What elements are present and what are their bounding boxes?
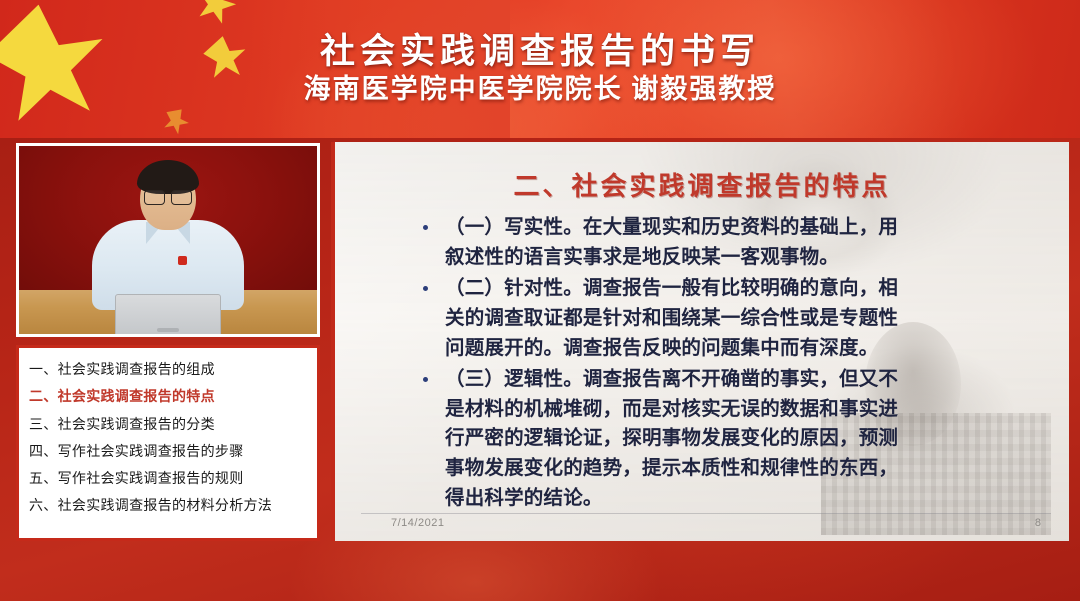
presenter-video-panel[interactable] bbox=[16, 143, 320, 337]
slide-footer: 7/14/2021 8 bbox=[335, 513, 1069, 541]
slide-panel[interactable]: 二、社会实践调查报告的特点 （一）写实性。在大量现实和历史资料的基础上，用叙述性… bbox=[331, 142, 1069, 541]
page-subtitle: 海南医学院中医学院院长 谢毅强教授 bbox=[304, 75, 777, 105]
slide-bullet-text-1: （一）写实性。在大量现实和历史资料的基础上，用叙述性的语言实事求是地反映某一客观… bbox=[445, 213, 915, 272]
slide-bullet-text-2: （二）针对性。调查报告一般有比较明确的意向，相关的调查取证都是针对和围绕某一综合… bbox=[445, 274, 915, 363]
bullet-dot-icon bbox=[423, 377, 428, 382]
outline-item-4[interactable]: 四、写作社会实践调查报告的步骤 bbox=[29, 439, 309, 466]
slide-bullet-text-3: （三）逻辑性。调查报告离不开确凿的事实，但又不是材料的机械堆砌，而是对核实无误的… bbox=[445, 365, 915, 513]
bullet-dot-icon bbox=[423, 286, 428, 291]
outline-item-1[interactable]: 一、社会实践调查报告的组成 bbox=[29, 357, 309, 384]
screen-root: 社会实践调查报告的书写 海南医学院中医学院院长 谢毅强教授 一、社会实践调查报告… bbox=[0, 0, 1080, 601]
bullet-dot-icon bbox=[423, 225, 428, 230]
slide-page-number: 8 bbox=[1035, 517, 1041, 529]
slide-date: 7/14/2021 bbox=[391, 517, 444, 529]
laptop-icon bbox=[115, 294, 221, 336]
outline-panel: 一、社会实践调查报告的组成 二、社会实践调查报告的特点 三、社会实践调查报告的分… bbox=[16, 345, 320, 541]
header-banner: 社会实践调查报告的书写 海南医学院中医学院院长 谢毅强教授 bbox=[0, 0, 1080, 138]
outline-item-2[interactable]: 二、社会实践调查报告的特点 bbox=[29, 384, 309, 411]
slide-title: 二、社会实践调查报告的特点 bbox=[357, 166, 1047, 203]
page-title: 社会实践调查报告的书写 bbox=[320, 34, 760, 71]
footer-divider bbox=[361, 513, 1051, 514]
outline-item-5[interactable]: 五、写作社会实践调查报告的规则 bbox=[29, 466, 309, 493]
lapel-badge-icon bbox=[178, 256, 187, 265]
slide-bullet-item: （三）逻辑性。调查报告离不开确凿的事实，但又不是材料的机械堆砌，而是对核实无误的… bbox=[445, 365, 1047, 513]
glasses-icon bbox=[144, 190, 192, 203]
header-title-group: 社会实践调查报告的书写 海南医学院中医学院院长 谢毅强教授 bbox=[0, 0, 1080, 138]
outline-item-3[interactable]: 三、社会实践调查报告的分类 bbox=[29, 412, 309, 439]
slide-bullet-item: （二）针对性。调查报告一般有比较明确的意向，相关的调查取证都是针对和围绕某一综合… bbox=[445, 274, 1047, 363]
outline-item-6[interactable]: 六、社会实践调查报告的材料分析方法 bbox=[29, 493, 309, 520]
slide-bullet-item: （一）写实性。在大量现实和历史资料的基础上，用叙述性的语言实事求是地反映某一客观… bbox=[445, 213, 1047, 272]
slide-content: 二、社会实践调查报告的特点 （一）写实性。在大量现实和历史资料的基础上，用叙述性… bbox=[335, 142, 1069, 541]
slide-bullet-list: （一）写实性。在大量现实和历史资料的基础上，用叙述性的语言实事求是地反映某一客观… bbox=[445, 213, 1047, 513]
